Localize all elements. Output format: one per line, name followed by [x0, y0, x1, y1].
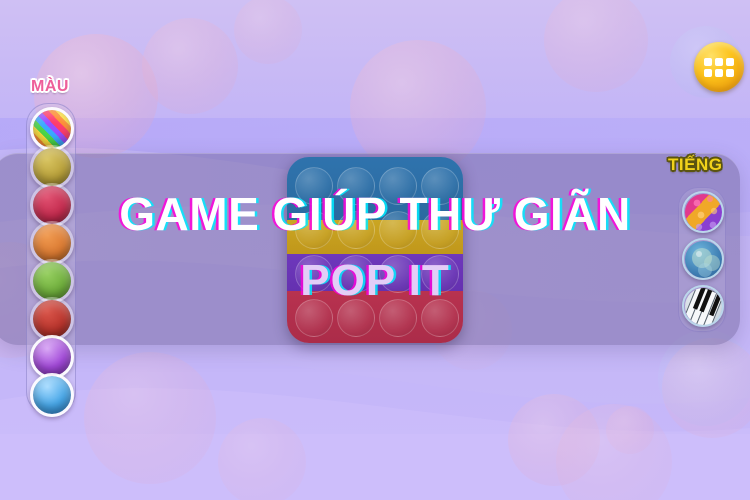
sound-button-ring	[682, 191, 724, 233]
popit-bubble-grid	[287, 157, 463, 343]
sound-button-ring	[682, 285, 724, 327]
page-subtitle: POP IT	[0, 256, 750, 306]
swatch-ring	[30, 373, 74, 417]
sound-button-piano[interactable]	[682, 285, 724, 327]
app-screen: GAME GIÚP THƯ GIÃN POP IT MÀU	[0, 0, 750, 500]
grid-menu-icon	[704, 58, 734, 77]
color-swatch-blue[interactable]	[30, 373, 74, 417]
popit-app-icon[interactable]	[287, 157, 463, 343]
sound-button-rail	[678, 187, 726, 332]
sound-button-popit[interactable]	[682, 191, 724, 233]
sound-button-bubble[interactable]	[682, 238, 724, 280]
color-panel-label: MÀU	[31, 78, 69, 96]
sound-panel-label: TIẾNG	[668, 155, 722, 175]
page-title: GAME GIÚP THƯ GIÃN	[0, 187, 750, 241]
color-swatch-rail	[26, 103, 76, 414]
grid-menu-button[interactable]	[694, 42, 744, 92]
sound-button-ring	[682, 238, 724, 280]
